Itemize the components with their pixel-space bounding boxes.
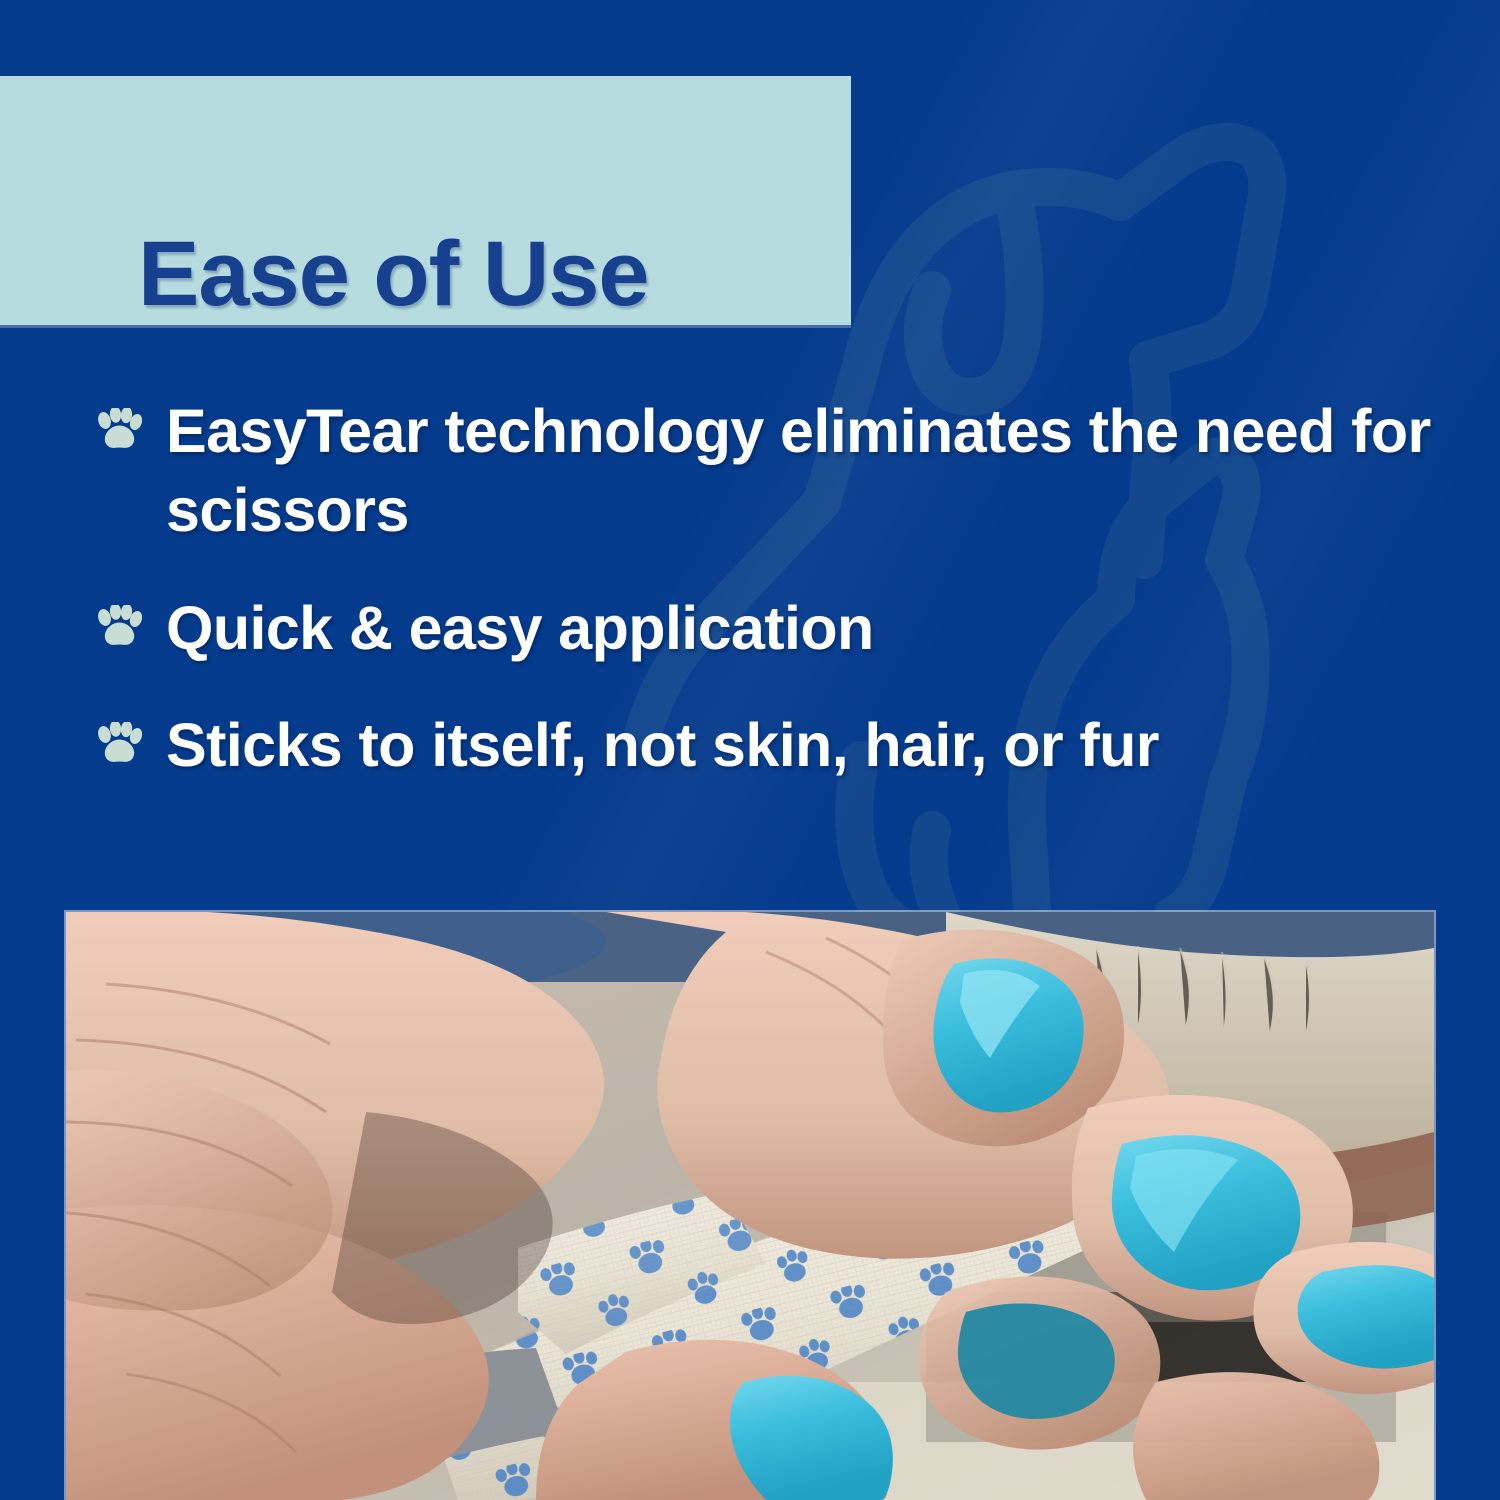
header-banner: Ease of Use [0,76,851,325]
bullet-item-easytear: EasyTear technology eliminates the need … [96,392,1456,551]
paw-print-icon [96,605,142,649]
ease-of-use-infographic: Ease of Use EasyTear technology eliminat… [0,0,1500,1500]
bullet-label: Quick & easy application [166,589,1456,668]
feature-bullet-list: EasyTear technology eliminates the need … [96,392,1456,823]
bullet-label: Sticks to itself, not skin, hair, or fur [166,706,1456,785]
bullet-item-quick-easy: Quick & easy application [96,589,1456,668]
product-demo-photo [66,912,1434,1500]
bullet-item-sticks-to-itself: Sticks to itself, not skin, hair, or fur [96,706,1456,785]
paw-print-icon [96,722,142,766]
page-title: Ease of Use [138,228,649,320]
bullet-label: EasyTear technology eliminates the need … [166,392,1456,551]
paw-print-icon [96,408,142,452]
